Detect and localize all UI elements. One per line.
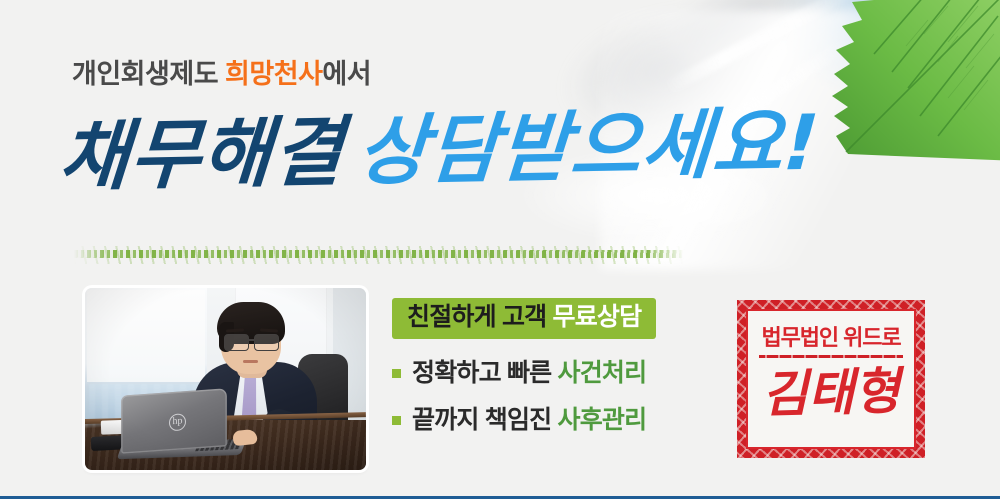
eyebrow-text: 개인회생제도 희망천사에서 (72, 52, 371, 91)
eyebrow-suffix: 에서 (322, 59, 371, 89)
eyebrow-highlight: 희망천사 (225, 59, 322, 89)
feature-item-2: 끝까지 책임진 사후관리 (392, 408, 656, 433)
green-speckled-divider (74, 246, 684, 264)
badge-accent-text: 무료상담 (553, 303, 642, 331)
bullet-square-icon (392, 416, 401, 425)
stamp-person-name: 김태형 (736, 366, 925, 421)
feature-2-accent: 사후관리 (558, 406, 647, 434)
photo-scene: hp (85, 288, 366, 470)
feature-item-1: 정확하고 빠른 사건처리 (392, 361, 656, 386)
feature-list: 친절하게 고객 무료상담 정확하고 빠른 사건처리 끝까지 책임진 사후관리 (392, 298, 656, 433)
feature-item-2-text: 끝까지 책임진 사후관리 (412, 408, 646, 433)
feature-item-1-text: 정확하고 빠른 사건처리 (412, 361, 646, 386)
headline-dark-part: 채무해결 (56, 107, 346, 201)
feature-2-lead: 끝까지 책임진 (412, 406, 558, 434)
feature-1-lead: 정확하고 빠른 (412, 359, 558, 387)
stamp-firm-name: 법무법인 위드로 (737, 320, 925, 352)
law-firm-stamp: 법무법인 위드로 김태형 (737, 300, 925, 458)
bullet-square-icon (392, 369, 401, 378)
eyebrow-prefix: 개인회생제도 (72, 59, 225, 89)
consultant-photo: hp (85, 288, 366, 470)
headline: 채무해결상담받으세요! (57, 105, 822, 196)
divider-band (74, 250, 684, 258)
free-consultation-badge: 친절하게 고객 무료상담 (392, 298, 656, 339)
badge-lead-text: 친절하게 고객 (407, 303, 553, 331)
feature-1-accent: 사건처리 (558, 359, 647, 387)
stamp-divider-rule (759, 355, 903, 358)
promo-banner: 개인회생제도 희망천사에서 채무해결상담받으세요! (0, 0, 1000, 499)
headline-bright-part: 상담받으세요! (355, 98, 823, 196)
photo-vignette (85, 288, 366, 470)
